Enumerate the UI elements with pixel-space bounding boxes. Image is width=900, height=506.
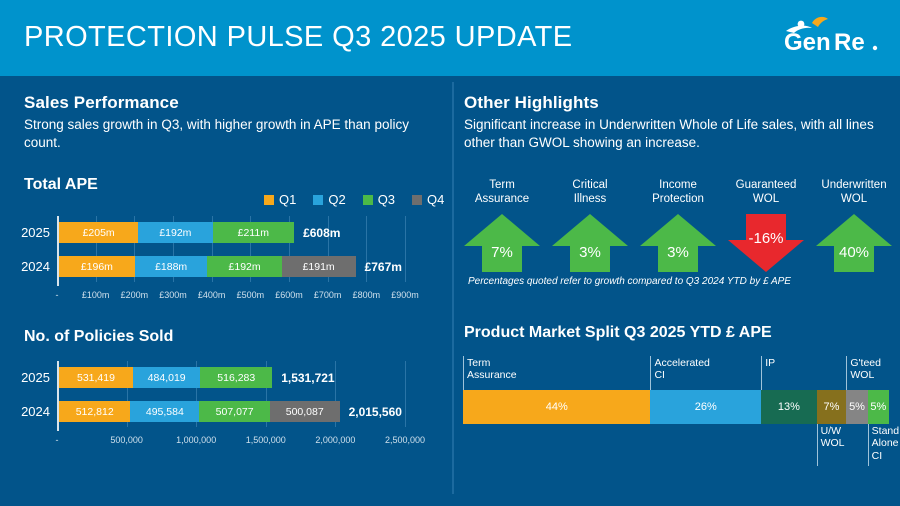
arrow-caption-line1: Guaranteed [736,179,797,191]
arrow-caption-line1: Critical [572,179,607,191]
total-ape-legend: Q1Q2Q3Q4 [264,192,444,207]
segment-value: 5% [849,401,865,413]
bar-row-total: £767m [365,260,402,274]
arrow-caption-line2: WOL [753,193,779,205]
arrow-up-icon: 3% [546,212,634,274]
svg-text:Gen: Gen [784,29,831,56]
svg-text:Re: Re [834,29,865,56]
arrow-caption: CriticalIllness [546,178,634,208]
growth-arrow-3: IncomeProtection3% [634,178,722,274]
segment-label: IP [765,357,775,369]
segment-label: StandAloneCI [872,425,899,462]
arrow-caption-line2: Assurance [475,193,529,205]
legend-swatch-q1-icon [264,195,274,205]
growth-arrow-4: GuaranteedWOL-16% [722,178,810,274]
arrow-value: 40% [810,244,898,261]
market-split-segment-3: IP13% [761,390,816,424]
legend-item-q4: Q4 [412,192,444,207]
bar-segment-q4: £191m [282,256,356,277]
sales-performance-panel: Sales Performance Strong sales growth in… [0,76,452,506]
arrow-up-icon: 3% [634,212,722,274]
growth-arrow-1: TermAssurance7% [458,178,546,274]
segment-leader-line [846,356,847,390]
policies-sold-title: No. of Policies Sold [24,328,173,346]
arrow-value: 3% [634,244,722,261]
arrow-caption-line1: Income [659,179,697,191]
bar-segment-q1: £196m [59,256,135,277]
segment-leader-line [817,424,818,466]
table-row: £205m£192m£211m [59,222,294,243]
segment-value: 5% [870,401,886,413]
sales-performance-subtitle: Strong sales growth in Q3, with higher g… [24,116,429,152]
bar-segment-q1: 531,419 [59,367,133,388]
market-split-bar: TermAssurance44%AcceleratedCI26%IP13%U/W… [463,390,889,424]
legend-swatch-q2-icon [313,195,323,205]
total-ape-title: Total APE [24,176,98,194]
legend-label: Q1 [279,192,296,207]
bar-row-year-label: 2025 [4,225,50,240]
segment-value: 7% [824,401,840,413]
bar-segment-q3: £192m [207,256,281,277]
growth-arrows-row: TermAssurance7%CriticalIllness3%IncomePr… [458,178,898,278]
bar-segment-q1: £205m [59,222,138,243]
market-split-segment-4: U/WWOL7% [817,390,847,424]
arrow-caption: UnderwrittenWOL [810,178,898,208]
bar-row-total: 1,531,721 [281,371,334,385]
bar-segment-q2: 495,584 [130,401,199,422]
legend-item-q3: Q3 [363,192,395,207]
segment-leader-line [868,424,869,466]
other-highlights-panel: Other Highlights Significant increase in… [454,76,900,506]
segment-leader-line [650,356,651,390]
arrow-value: 3% [546,244,634,261]
legend-swatch-q4-icon [412,195,422,205]
x-axis-tick-label: 2,000,000 [305,435,365,445]
bar-row-total: 2,015,560 [349,405,402,419]
segment-value: 13% [778,401,800,413]
bar-row-year-label: 2024 [4,404,50,419]
legend-label: Q3 [378,192,395,207]
bar-segment-q2: £188m [135,256,208,277]
x-axis-tick-label: 1,000,000 [166,435,226,445]
arrow-value: -16% [722,230,810,247]
total-ape-chart: 2025£205m£192m£211m£608m2024£196m£188m£1… [0,216,452,296]
segment-label: G'teedWOL [850,357,881,382]
market-split-segment-6: StandAloneCI5% [868,390,889,424]
bar-segment-q4: 500,087 [270,401,340,422]
bar-row-year-label: 2024 [4,259,50,274]
arrow-down-icon: -16% [722,212,810,274]
growth-arrow-2: CriticalIllness3% [546,178,634,274]
bar-segment-q3: £211m [213,222,295,243]
arrow-caption-line2: WOL [841,193,867,205]
x-axis-tick-label: 2,500,000 [375,435,435,445]
arrows-footnote: Percentages quoted refer to growth compa… [468,276,791,287]
other-highlights-title: Other Highlights [464,93,599,113]
segment-value: 26% [695,401,717,413]
arrow-caption: IncomeProtection [634,178,722,208]
bar-segment-q1: 512,812 [59,401,130,422]
segment-label: AcceleratedCI [654,357,709,382]
bar-segment-q2: £192m [138,222,212,243]
arrow-caption-line1: Underwritten [821,179,886,191]
arrow-caption: GuaranteedWOL [722,178,810,208]
x-axis-tick-label: 1,500,000 [236,435,296,445]
legend-item-q1: Q1 [264,192,296,207]
legend-item-q2: Q2 [313,192,345,207]
gridline [405,361,406,427]
legend-label: Q4 [427,192,444,207]
segment-value: 44% [546,401,568,413]
segment-leader-line [463,356,464,390]
gen-re-logo: Gen Re [782,14,882,62]
segment-leader-line [761,356,762,390]
market-split-segment-5: G'teedWOL5% [846,390,867,424]
segment-label: TermAssurance [467,357,517,382]
table-row: £196m£188m£192m£191m [59,256,356,277]
gridline [405,216,406,282]
sales-performance-title: Sales Performance [24,93,179,113]
arrow-up-icon: 7% [458,212,546,274]
legend-swatch-q3-icon [363,195,373,205]
arrow-caption-line2: Protection [652,193,704,205]
x-axis-tick-label: 500,000 [97,435,157,445]
legend-label: Q2 [328,192,345,207]
x-axis-tick-label: £900m [375,290,435,300]
market-split-segment-2: AcceleratedCI26% [650,390,761,424]
arrow-up-icon: 40% [810,212,898,274]
arrow-value: 7% [458,244,546,261]
bar-row-year-label: 2025 [4,370,50,385]
page-header: PROTECTION PULSE Q3 2025 UPDATE Gen Re [0,0,900,76]
bar-segment-q2: 484,019 [133,367,200,388]
arrow-caption-line1: Term [489,179,515,191]
bar-segment-q3: 507,077 [199,401,270,422]
arrow-caption-line2: Illness [574,193,607,205]
market-split-title: Product Market Split Q3 2025 YTD £ APE [464,324,772,342]
segment-label: U/WWOL [821,425,845,450]
bar-segment-q3: 516,283 [200,367,272,388]
table-row: 512,812495,584507,077500,087 [59,401,340,422]
table-row: 531,419484,019516,283 [59,367,272,388]
bar-row-total: £608m [303,226,340,240]
other-highlights-subtitle: Significant increase in Underwritten Who… [464,116,888,152]
market-split-segment-1: TermAssurance44% [463,390,650,424]
x-axis-tick-label: - [27,435,87,445]
growth-arrow-5: UnderwrittenWOL40% [810,178,898,274]
page-title: PROTECTION PULSE Q3 2025 UPDATE [24,21,573,54]
policies-sold-chart: 2025531,419484,019516,2831,531,721202451… [0,361,452,441]
arrow-caption: TermAssurance [458,178,546,208]
